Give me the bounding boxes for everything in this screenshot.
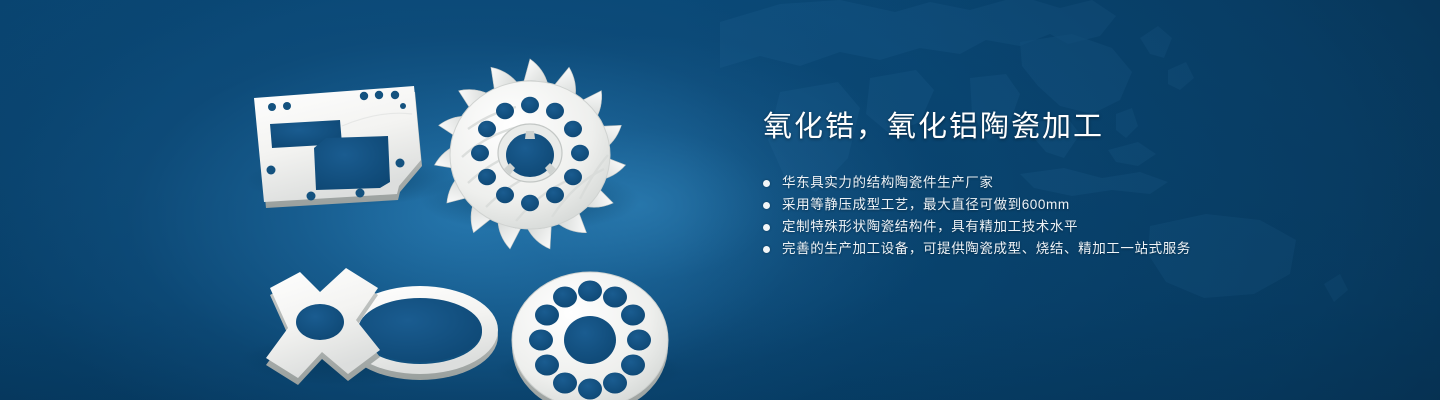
feature-text: 华东具实力的结构陶瓷件生产厂家 xyxy=(782,172,994,194)
feature-text: 完善的生产加工设备，可提供陶瓷成型、烧结、精加工一站式服务 xyxy=(782,238,1191,260)
ceramic-perforated-disc xyxy=(512,272,668,400)
bullet-dot-icon xyxy=(763,224,770,231)
bullet-dot-icon xyxy=(763,246,770,253)
banner-copy: 氧化锆，氧化铝陶瓷加工 华东具实力的结构陶瓷件生产厂家 采用等静压成型工艺，最大… xyxy=(763,108,1383,260)
feature-list: 华东具实力的结构陶瓷件生产厂家 采用等静压成型工艺，最大直径可做到600mm 定… xyxy=(763,172,1383,260)
list-item: 采用等静压成型工艺，最大直径可做到600mm xyxy=(763,194,1383,216)
feature-text: 采用等静压成型工艺，最大直径可做到600mm xyxy=(782,194,1070,216)
product-photo-group xyxy=(230,40,730,380)
ceramic-machined-plate xyxy=(254,86,422,208)
list-item: 华东具实力的结构陶瓷件生产厂家 xyxy=(763,172,1383,194)
list-item: 完善的生产加工设备，可提供陶瓷成型、烧结、精加工一站式服务 xyxy=(763,238,1383,260)
list-item: 定制特殊形状陶瓷结构件，具有精加工技术水平 xyxy=(763,216,1383,238)
bullet-dot-icon xyxy=(763,180,770,187)
bullet-dot-icon xyxy=(763,202,770,209)
feature-text: 定制特殊形状陶瓷结构件，具有精加工技术水平 xyxy=(782,216,1078,238)
page-title: 氧化锆，氧化铝陶瓷加工 xyxy=(763,108,1383,146)
promo-banner: 氧化锆，氧化铝陶瓷加工 华东具实力的结构陶瓷件生产厂家 采用等静压成型工艺，最大… xyxy=(0,0,1440,400)
